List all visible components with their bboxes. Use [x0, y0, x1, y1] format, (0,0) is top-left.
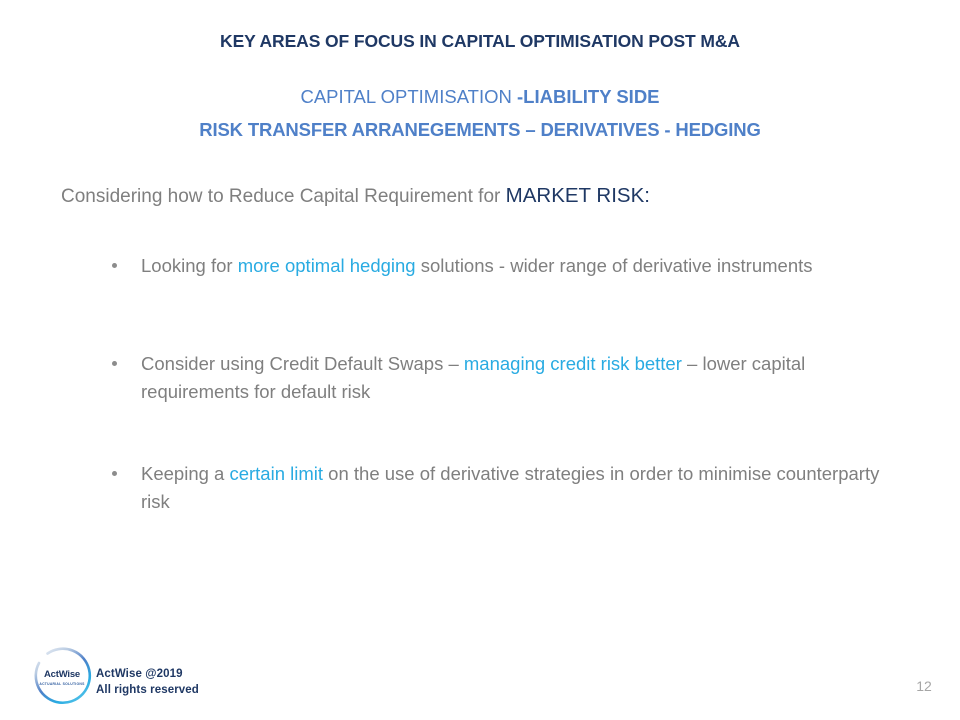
subtitle-line-2: RISK TRANSFER ARRANEGEMENTS – DERIVATIVE…	[0, 116, 960, 144]
list-item: Looking for more optimal hedging solutio…	[108, 252, 898, 281]
list-item: Consider using Credit Default Swaps – ma…	[108, 350, 898, 407]
subtitle-line-1-bold: -LIABILITY SIDE	[517, 86, 660, 107]
actwise-logo: ActWise ACTUARIAL SOLUTIONS	[31, 647, 93, 709]
footer-copyright-line-1: ActWise @2019	[96, 666, 199, 682]
logo-ring-icon	[31, 647, 93, 709]
bullet-highlight: managing credit risk better	[464, 353, 682, 374]
lead-in-prefix: Considering how to Reduce Capital Requir…	[61, 186, 506, 207]
bullet-dot-icon	[112, 471, 117, 476]
slide-canvas: KEY AREAS OF FOCUS IN CAPITAL OPTIMISATI…	[0, 0, 960, 720]
bullet-text-part-1: Keeping a	[141, 463, 229, 484]
bullet-text-part-2: solutions - wider range of derivative in…	[416, 255, 813, 276]
list-item: Keeping a certain limit on the use of de…	[108, 460, 898, 517]
bullet-highlight: certain limit	[229, 463, 323, 484]
subtitle-block: CAPITAL OPTIMISATION -LIABILITY SIDE RIS…	[0, 83, 960, 144]
bullet-list: Looking for more optimal hedging solutio…	[108, 252, 898, 517]
lead-in-line: Considering how to Reduce Capital Requir…	[61, 184, 650, 208]
slide-title: KEY AREAS OF FOCUS IN CAPITAL OPTIMISATI…	[0, 31, 960, 52]
footer-copyright-line-2: All rights reserved	[96, 682, 199, 698]
subtitle-line-1: CAPITAL OPTIMISATION -LIABILITY SIDE	[0, 83, 960, 110]
bullet-text-part-1: Looking for	[141, 255, 238, 276]
bullet-text-part-1: Consider using Credit Default Swaps –	[141, 353, 464, 374]
lead-in-accent: MARKET RISK:	[506, 184, 650, 207]
footer-copyright: ActWise @2019 All rights reserved	[96, 666, 199, 698]
page-number: 12	[906, 678, 942, 694]
bullet-highlight: more optimal hedging	[238, 255, 416, 276]
subtitle-line-1-regular: CAPITAL OPTIMISATION	[300, 86, 517, 107]
bullet-dot-icon	[112, 361, 117, 366]
bullet-dot-icon	[112, 263, 117, 268]
bullet-spacer	[108, 407, 898, 460]
bullet-spacer	[108, 281, 898, 350]
